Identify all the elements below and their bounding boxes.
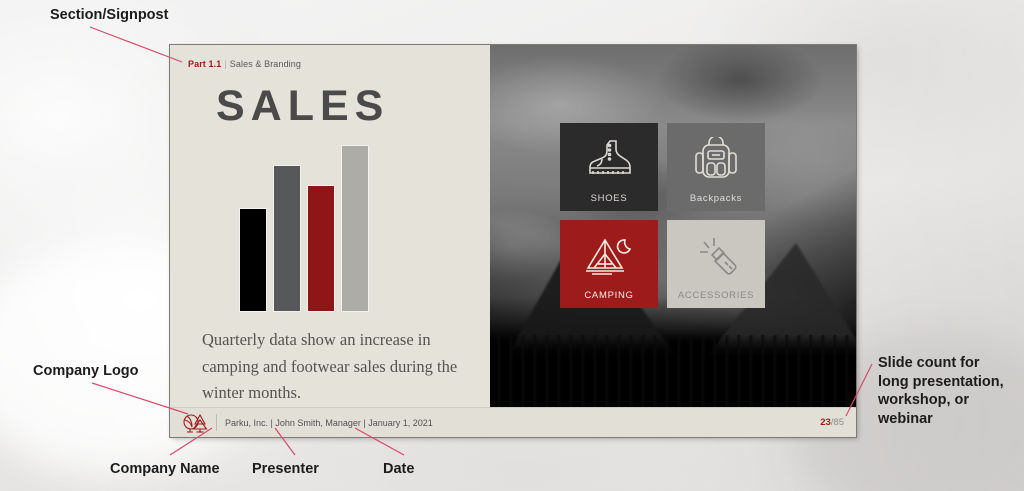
- chart-bar: [342, 146, 368, 311]
- slide-count-total: 85: [833, 417, 844, 428]
- signpost-separator: |: [224, 59, 226, 69]
- tile-label: CAMPING: [584, 290, 633, 301]
- signpost-subtitle: Sales & Branding: [230, 59, 301, 69]
- slide-body: Part 1.1|Sales & Branding SALES Quarterl…: [170, 45, 856, 407]
- tile-camping[interactable]: CAMPING: [560, 220, 658, 308]
- chart-bar: [240, 209, 266, 311]
- pine-trees-logo-icon: [180, 412, 210, 434]
- screenshot-root: Part 1.1|Sales & Branding SALES Quarterl…: [0, 0, 1024, 491]
- callout-date: Date: [383, 460, 414, 479]
- slide-right-column: SHOES: [490, 45, 856, 407]
- callout-section-signpost: Section/Signpost: [50, 6, 168, 25]
- backpack-icon: [667, 133, 765, 185]
- tile-backpacks[interactable]: Backpacks: [667, 123, 765, 211]
- footer-credits: Parku, Inc. | John Smith, Manager | Janu…: [225, 418, 433, 428]
- callout-slide-count: Slide count for long presentation, works…: [878, 354, 1004, 428]
- product-category-tiles: SHOES: [560, 123, 765, 308]
- signpost-part: Part 1.1: [188, 59, 221, 69]
- callout-company-name: Company Name: [110, 460, 220, 479]
- footer-divider: [216, 414, 217, 431]
- forest-silhouette: [490, 335, 856, 407]
- chart-bar: [274, 166, 300, 311]
- tile-label: SHOES: [591, 193, 628, 204]
- tile-label: Backpacks: [690, 193, 742, 204]
- page-title: SALES: [216, 85, 472, 128]
- callout-company-logo: Company Logo: [33, 362, 139, 381]
- tent-moon-icon: [560, 230, 658, 282]
- flashlight-icon: [667, 230, 765, 282]
- slide-left-column: Part 1.1|Sales & Branding SALES Quarterl…: [170, 45, 490, 407]
- chart-bar: [308, 186, 334, 311]
- callout-presenter: Presenter: [252, 460, 319, 479]
- hiking-boot-icon: [560, 133, 658, 185]
- presentation-slide[interactable]: Part 1.1|Sales & Branding SALES Quarterl…: [170, 45, 856, 437]
- sales-bar-chart: [240, 146, 472, 311]
- slide-body-paragraph: Quarterly data show an increase in campi…: [202, 327, 472, 407]
- tile-accessories[interactable]: ACCESSORIES: [667, 220, 765, 308]
- section-signpost: Part 1.1|Sales & Branding: [188, 59, 472, 69]
- tile-label: ACCESSORIES: [678, 290, 754, 301]
- slide-count: 23/85: [820, 417, 844, 428]
- tile-shoes[interactable]: SHOES: [560, 123, 658, 211]
- slide-footer: Parku, Inc. | John Smith, Manager | Janu…: [170, 407, 856, 437]
- slide-count-current: 23: [820, 417, 831, 428]
